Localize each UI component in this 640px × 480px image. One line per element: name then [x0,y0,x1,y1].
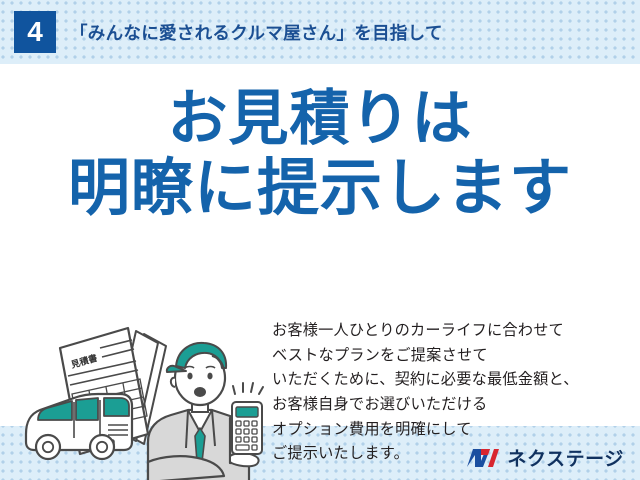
promotional-banner: 4 「みんなに愛されるクルマ屋さん」を目指して お見積りは 明瞭に提示します 見… [0,0,640,480]
headline-line-2: 明瞭に提示します [0,157,640,220]
footer-bar: ネクステージ [0,426,640,480]
headline-line-1: お見積りは [0,88,640,149]
header-title: 「みんなに愛されるクルマ屋さん」を目指して [70,20,443,45]
brand-logo: ネクステージ [466,444,624,471]
header-bar: 4 「みんなに愛されるクルマ屋さん」を目指して [0,0,640,64]
body-copy-line: いただくために、契約に必要な最低金額と、 [272,368,632,393]
body-copy-line: ベストなプランをご提案させて [272,344,632,369]
body-copy-line: お客様一人ひとりのカーライフに合わせて [272,319,632,344]
headline: お見積りは 明瞭に提示します [0,88,640,220]
sparkle-icon [233,383,263,394]
nextage-n-mark-icon [466,446,500,470]
step-number-badge: 4 [14,11,56,53]
brand-name: ネクステージ [507,444,624,471]
content-panel: お見積りは 明瞭に提示します 見積書 [0,64,640,426]
body-copy-line: お客様自身でお選びいただける [272,393,632,418]
